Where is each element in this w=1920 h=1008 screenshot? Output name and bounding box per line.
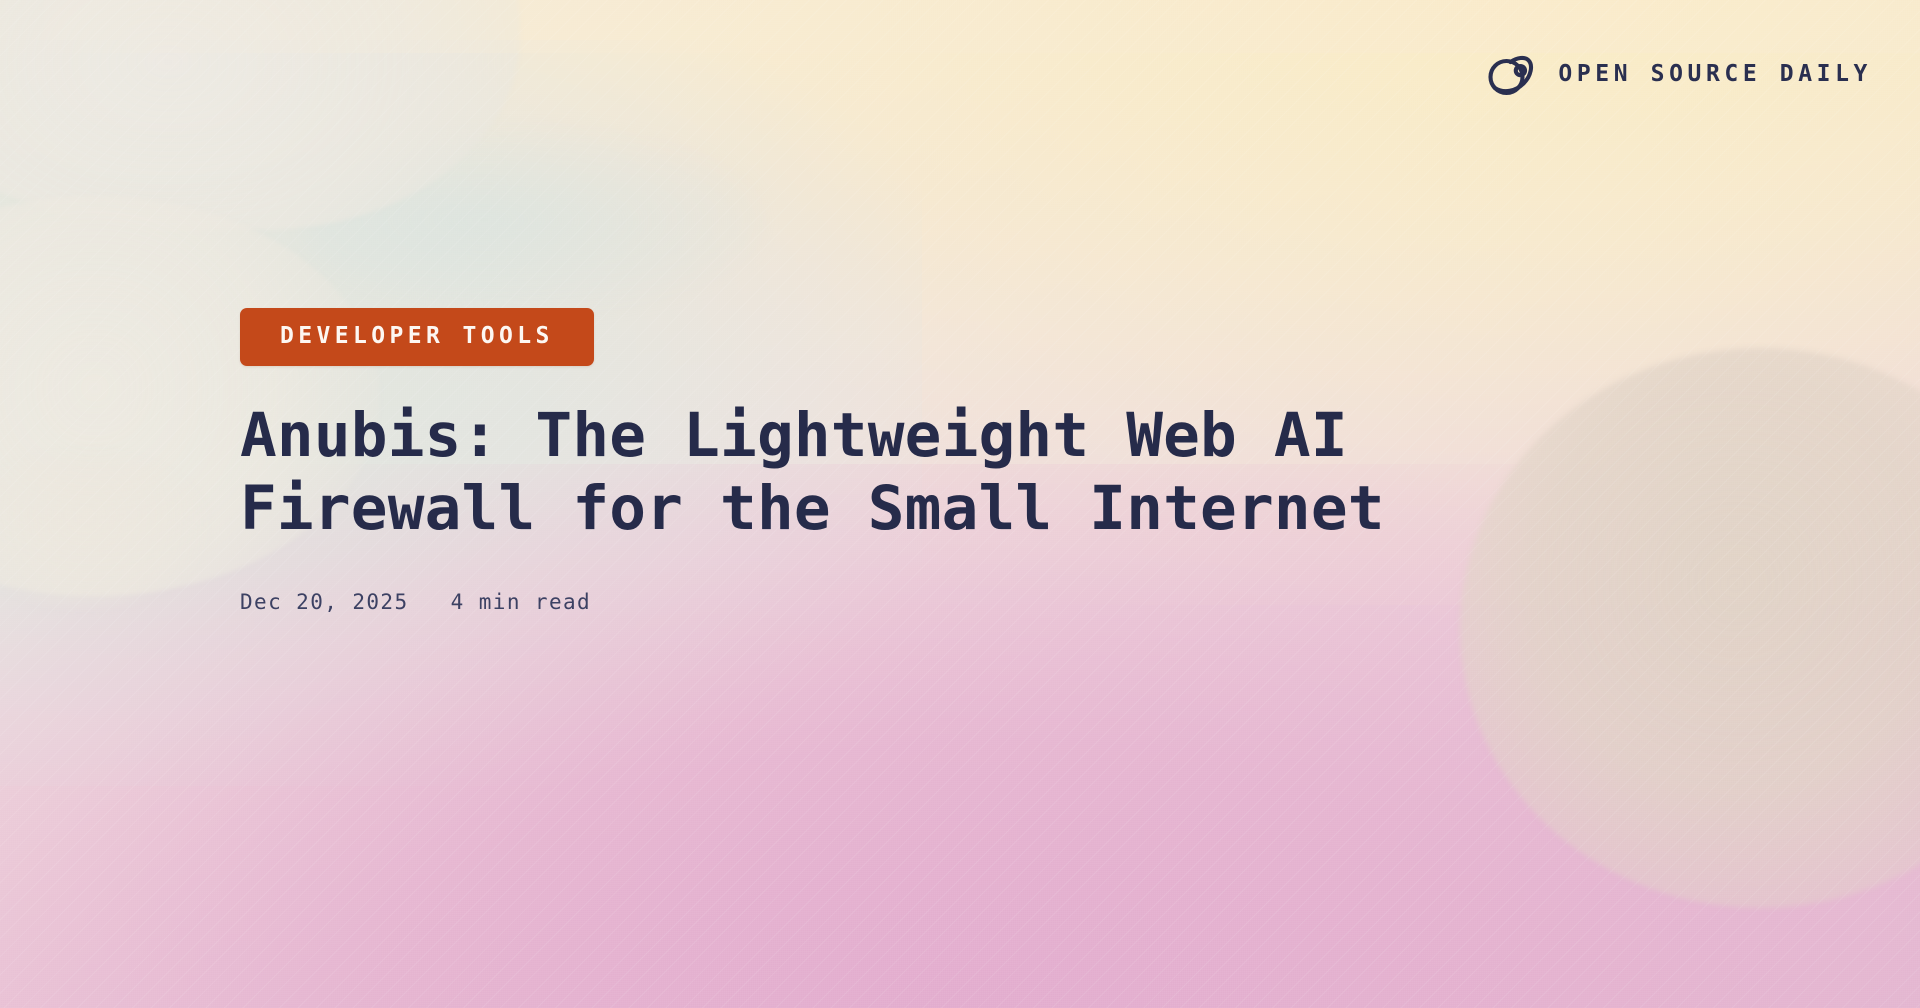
site-header[interactable]: OPEN SOURCE DAILY bbox=[1482, 46, 1872, 102]
planet-ringed-icon bbox=[1482, 46, 1538, 102]
article-meta: Dec 20, 2025 4 min read bbox=[240, 590, 1385, 614]
category-badge[interactable]: DEVELOPER TOOLS bbox=[240, 308, 594, 366]
brand-name: OPEN SOURCE DAILY bbox=[1558, 61, 1872, 87]
article-hero-banner: OPEN SOURCE DAILY DEVELOPER TOOLS Anubis… bbox=[0, 0, 1920, 1008]
hero-content: DEVELOPER TOOLS Anubis: The Lightweight … bbox=[240, 308, 1385, 614]
page-title: Anubis: The Lightweight Web AI Firewall … bbox=[240, 400, 1385, 545]
